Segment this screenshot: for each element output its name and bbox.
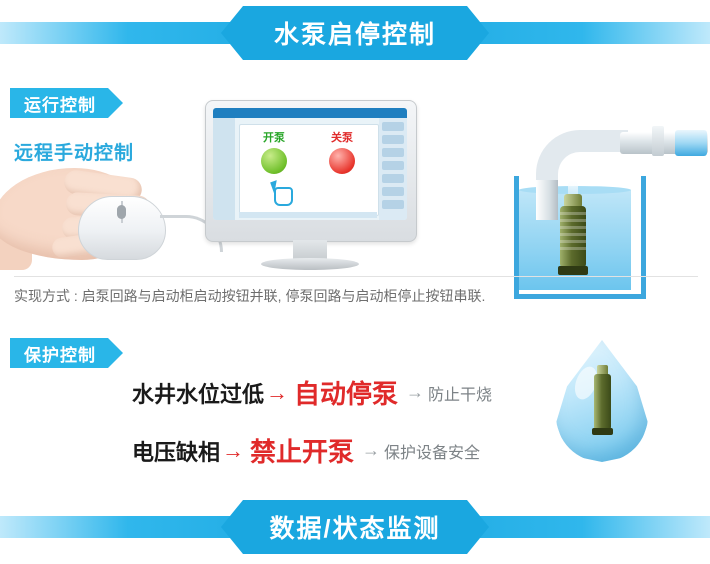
run-control-subtitle: 远程手动控制 — [14, 138, 134, 165]
monitor-illustration: 开泵 关泵 — [205, 100, 415, 270]
arrow-right-small-icon: → — [406, 382, 424, 403]
pipe-vertical — [536, 180, 558, 220]
monitor-base — [261, 258, 359, 270]
arrow-right-small-icon: → — [362, 440, 380, 461]
mouse-wheel — [117, 205, 126, 219]
run-control-tag: 运行控制 — [10, 88, 108, 118]
stop-pump-button[interactable]: 关泵 — [316, 129, 368, 174]
screen-right-panel — [379, 118, 407, 220]
screen-topbar — [213, 108, 407, 118]
protect-control-tag-label: 保护控制 — [24, 341, 96, 366]
bottom-banner-plate: 数据/状态监测 — [221, 500, 489, 554]
computer-mouse-icon — [78, 196, 166, 260]
protect-rule-row: 电压缺相 → 禁止开泵 → 保护设备安全 — [132, 432, 480, 469]
screen-footer-bar — [239, 212, 377, 218]
implementation-note-text: 实现方式 : 启泵回路与启动柜启动按钮并联, 停泵回路与启动柜停止按钮串联. — [14, 288, 485, 304]
protect-condition: 水井水位过低 — [132, 377, 264, 409]
protect-action: 自动停泵 — [294, 374, 398, 411]
cursor-pointer-shape — [270, 180, 281, 194]
pump-fin — [560, 212, 586, 215]
protect-effect: 保护设备安全 — [384, 439, 480, 463]
top-banner: 水泵启停控制 — [0, 6, 710, 62]
stop-pump-label: 关泵 — [316, 129, 368, 145]
protect-control-tag: 保护控制 — [10, 338, 108, 368]
arrow-right-icon: → — [222, 438, 244, 464]
screen-right-item — [382, 122, 404, 131]
monitor-screen: 开泵 关泵 — [213, 108, 407, 220]
droplet-pump-base — [592, 428, 613, 435]
start-pump-label: 开泵 — [248, 129, 300, 145]
pipe-outlet-water — [675, 130, 707, 156]
hand-cursor-icon — [272, 181, 294, 205]
screen-right-item — [382, 200, 404, 209]
screen-right-item — [382, 135, 404, 144]
water-droplet-icon — [556, 340, 648, 470]
pipe-collar — [652, 126, 664, 156]
screen-button-row: 开泵 关泵 — [248, 129, 370, 174]
protect-effect: 防止干烧 — [428, 381, 492, 405]
screen-right-item — [382, 174, 404, 183]
pump-base — [558, 266, 588, 275]
infographic-root: 水泵启停控制 运行控制 远程手动控制 — [0, 0, 710, 564]
pump-fins — [560, 212, 586, 256]
screen-right-item — [382, 148, 404, 157]
screen-control-panel: 开泵 关泵 — [239, 124, 379, 216]
screen-right-item — [382, 161, 404, 170]
well-pump-illustration — [492, 60, 707, 250]
pump-fin — [560, 240, 586, 243]
arrow-right-icon: → — [266, 380, 288, 406]
top-banner-plate: 水泵启停控制 — [221, 6, 489, 60]
protect-condition: 电压缺相 — [132, 435, 220, 467]
start-pump-button[interactable]: 开泵 — [248, 129, 300, 174]
screen-sidebar — [213, 118, 235, 220]
screen-right-item — [382, 187, 404, 196]
pump-fin — [560, 247, 586, 250]
top-banner-title: 水泵启停控制 — [274, 15, 436, 51]
protect-action: 禁止开泵 — [250, 432, 354, 469]
bottom-banner-title: 数据/状态监测 — [270, 509, 441, 545]
pump-fin — [560, 226, 586, 229]
droplet-pump-icon — [594, 374, 611, 430]
stop-pump-indicator — [329, 148, 355, 174]
start-pump-indicator — [261, 148, 287, 174]
pump-fin — [560, 219, 586, 222]
pump-fin — [560, 233, 586, 236]
run-control-tag-label: 运行控制 — [24, 91, 96, 116]
bottom-banner: 数据/状态监测 — [0, 500, 710, 556]
note-divider — [14, 276, 698, 277]
protect-rule-row: 水井水位过低 → 自动停泵 → 防止干烧 — [132, 374, 492, 411]
implementation-note: 实现方式 : 启泵回路与启动柜启动按钮并联, 停泵回路与启动柜停止按钮串联. — [14, 286, 694, 306]
